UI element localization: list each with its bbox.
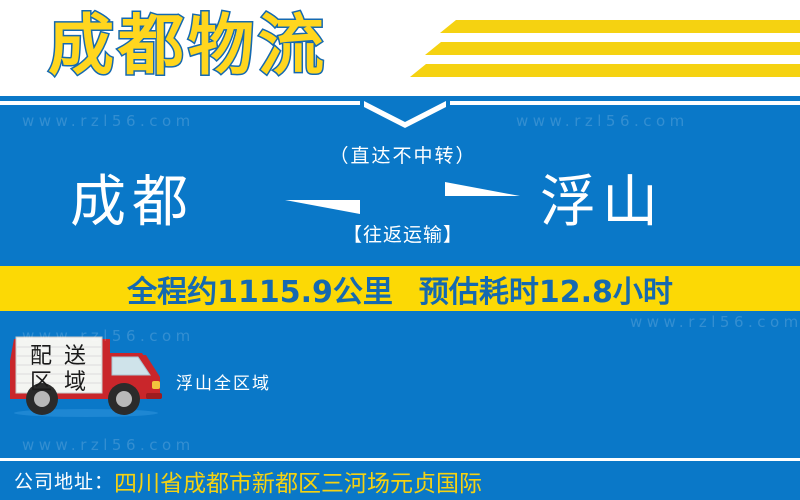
watermark: www.rzl56.com <box>22 436 195 454</box>
origin-city: 成都 <box>70 168 194 238</box>
bidirectional-arrow-icon <box>285 178 520 218</box>
destination-city: 浮山 <box>540 168 664 238</box>
chevron-down-icon <box>360 96 450 130</box>
decorative-stripes <box>410 12 800 84</box>
stripe-2 <box>425 42 800 55</box>
address-value: 四川省成都市新都区三河场元贞国际 <box>114 464 482 498</box>
address-label: 公司地址： <box>0 467 114 494</box>
distance-text: 全程约1115.9公里 <box>127 267 393 311</box>
watermark: www.rzl56.com <box>22 327 195 345</box>
page-title: 成都物流 <box>48 6 328 86</box>
truck-label-pei: 配 <box>30 344 52 369</box>
stripe-3 <box>410 64 800 77</box>
truck-label-qu: 区 <box>30 370 52 395</box>
info-bar-content: 全程约1115.9公里 预估耗时12.8小时 <box>0 266 800 311</box>
truck-label-yu: 域 <box>64 370 86 395</box>
route-note-direct: （直达不中转） <box>283 143 523 169</box>
chevron-down-glyph <box>360 96 450 130</box>
truck-label-song: 送 <box>64 344 86 369</box>
logistics-banner: 成都物流 成都 浮山 （直达不中转） 【往返运输】 全程约1115.9公里 预估… <box>0 0 800 500</box>
watermark: www.rzl56.com <box>516 112 689 130</box>
route-note-roundtrip: 【往返运输】 <box>283 222 523 248</box>
header-area: 成都物流 <box>0 0 800 96</box>
watermark: www.rzl56.com <box>630 313 800 331</box>
duration-text: 预估耗时12.8小时 <box>419 267 673 311</box>
info-bar: 全程约1115.9公里 预估耗时12.8小时 <box>0 266 800 311</box>
coverage-area-text: 浮山全区域 <box>176 369 271 394</box>
watermark: www.rzl56.com <box>22 112 195 130</box>
stripe-1 <box>440 20 800 33</box>
address-bar: 公司地址： 四川省成都市新都区三河场元贞国际 <box>0 461 800 500</box>
